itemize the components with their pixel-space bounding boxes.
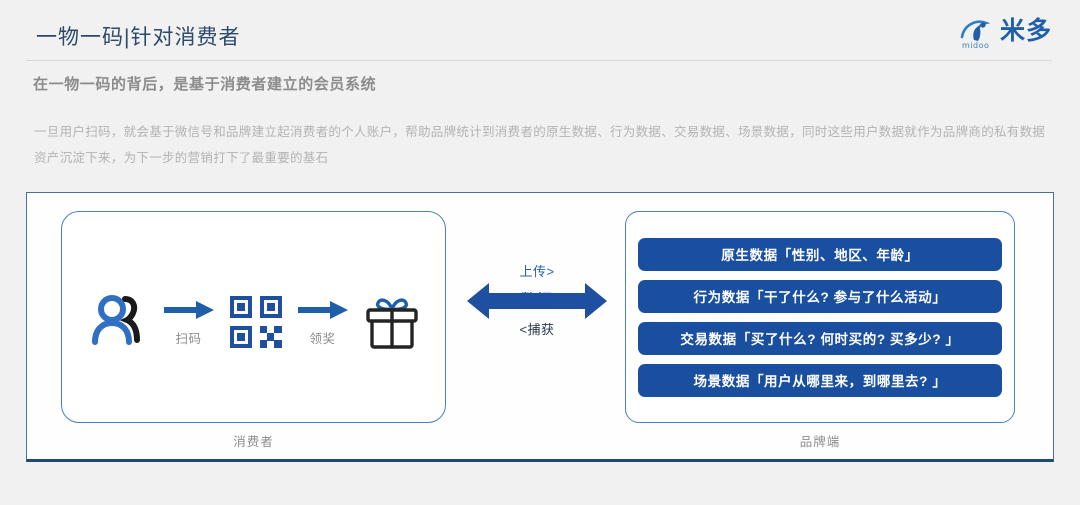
logo-wordmark-cn: 米多	[1000, 17, 1052, 45]
flow-step-gift	[362, 293, 422, 356]
diagram-frame: 扫码	[26, 192, 1054, 462]
person-icon	[88, 292, 150, 357]
flow-arrow-prize-label: 领奖	[309, 328, 335, 347]
data-tag-transaction: 交易数据「买了什么? 何时买的? 买多少? 」	[638, 322, 1002, 355]
flow-arrow-scan-label: 扫码	[175, 328, 201, 347]
flow-arrow-prize: 领奖	[290, 301, 356, 347]
arrow-right-icon	[298, 301, 348, 324]
consumer-flow: 扫码	[62, 284, 447, 364]
data-tag-scene: 场景数据「用户从哪里来，到哪里去? 」	[638, 364, 1002, 397]
page-header: 一物一码|针对消费者 midoo 米多	[0, 0, 1080, 64]
data-tag-native: 原生数据「性别、地区、年龄」	[638, 238, 1002, 271]
page-title: 一物一码|针对消费者	[36, 21, 240, 51]
body-paragraph: 一旦用户扫码，就会基于微信号和品牌建立起消费者的个人账户，帮助品牌统计到消费者的…	[34, 119, 1046, 171]
brand-panel-caption: 品牌端	[625, 431, 1015, 450]
capture-label: <捕获	[519, 321, 554, 339]
data-label: 数据	[467, 289, 607, 310]
consumer-panel: 扫码	[61, 211, 446, 423]
slide-page: 一物一码|针对消费者 midoo 米多 在一物一码的背后，是基于消费者建立的会员…	[0, 0, 1080, 505]
gift-icon	[362, 293, 422, 356]
flow-step-person	[88, 292, 150, 357]
flow-step-qrcode	[228, 294, 284, 355]
brand-logo: midoo 米多	[960, 15, 1068, 55]
consumer-panel-caption: 消费者	[61, 431, 446, 450]
brand-panel: 原生数据「性别、地区、年龄」 行为数据「干了什么? 参与了什么活动」 交易数据「…	[625, 211, 1015, 423]
flow-arrow-scan: 扫码	[156, 301, 222, 347]
qrcode-icon	[228, 294, 284, 355]
section-subtitle: 在一物一码的背后，是基于消费者建立的会员系统	[33, 73, 376, 94]
header-divider	[26, 60, 1052, 61]
data-tag-behavior: 行为数据「干了什么? 参与了什么活动」	[638, 280, 1002, 313]
arrow-right-icon	[164, 301, 214, 324]
logo-wordmark-en: midoo	[962, 41, 989, 50]
data-exchange-arrow: 上传> 数据 <捕获	[467, 263, 607, 373]
upload-label: 上传>	[519, 263, 554, 281]
